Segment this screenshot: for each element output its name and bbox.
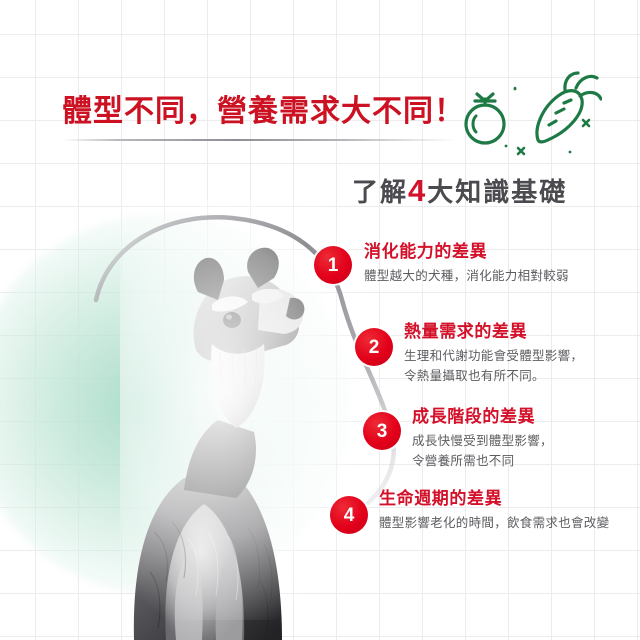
- step-badge-4: 4: [330, 496, 368, 534]
- subtitle-suffix: 大知識基礎: [427, 177, 567, 207]
- list-item-body: 體型越大的犬種，消化能力相對較弱: [364, 267, 569, 286]
- list-item-body-line: 令營養所需也不同: [412, 452, 553, 471]
- infographic-canvas: 體型不同，營養需求大不同！: [0, 0, 640, 640]
- step-badge-1: 1: [314, 246, 352, 284]
- page-title: 體型不同，營養需求大不同！: [62, 96, 482, 128]
- list-item-body: 生理和代謝功能會受體型影響， 令熱量攝取也有所不同。: [404, 347, 583, 386]
- list-item-body-line: 體型影響老化的時間，飲食需求也會改變: [379, 514, 609, 533]
- list-item-body: 體型影響老化的時間，飲食需求也會改變: [379, 514, 609, 533]
- list-item-text: 消化能力的差異 體型越大的犬種，消化能力相對較弱: [364, 242, 569, 287]
- list-item-body-line: 令熱量攝取也有所不同。: [404, 367, 583, 386]
- list-item-title: 熱量需求的差異: [404, 322, 583, 342]
- section-subtitle: 了解4大知識基礎: [352, 172, 567, 209]
- list-item-body-line: 成長快慢受到體型影響，: [412, 432, 553, 451]
- tomato-icon: [466, 94, 504, 143]
- step-badge-2: 2: [355, 328, 393, 366]
- subtitle-prefix: 了解: [352, 177, 408, 207]
- list-item-title: 消化能力的差異: [364, 242, 569, 262]
- list-item-text: 熱量需求的差異 生理和代謝功能會受體型影響， 令熱量攝取也有所不同。: [404, 322, 583, 386]
- list-item-title: 生命週期的差異: [379, 489, 609, 509]
- list-item-body-line: 生理和代謝功能會受體型影響，: [404, 347, 583, 366]
- schnauzer-dog-photo: [92, 232, 312, 640]
- list-item-title: 成長階段的差異: [412, 407, 553, 427]
- list-item-text: 成長階段的差異 成長快慢受到體型影響， 令營養所需也不同: [412, 407, 553, 471]
- headline-block: 體型不同，營養需求大不同！: [62, 96, 482, 141]
- vegetable-icon-group: [452, 68, 602, 160]
- carrot-icon: [537, 73, 601, 142]
- list-item-text: 生命週期的差異 體型影響老化的時間，飲食需求也會改變: [379, 489, 609, 534]
- list-item-body-line: 體型越大的犬種，消化能力相對較弱: [364, 267, 569, 286]
- subtitle-number: 4: [408, 173, 427, 208]
- step-badge-3: 3: [363, 412, 401, 450]
- headline-divider: [62, 139, 457, 141]
- list-item-body: 成長快慢受到體型影響， 令營養所需也不同: [412, 432, 553, 471]
- sparkle-icon: [505, 88, 589, 154]
